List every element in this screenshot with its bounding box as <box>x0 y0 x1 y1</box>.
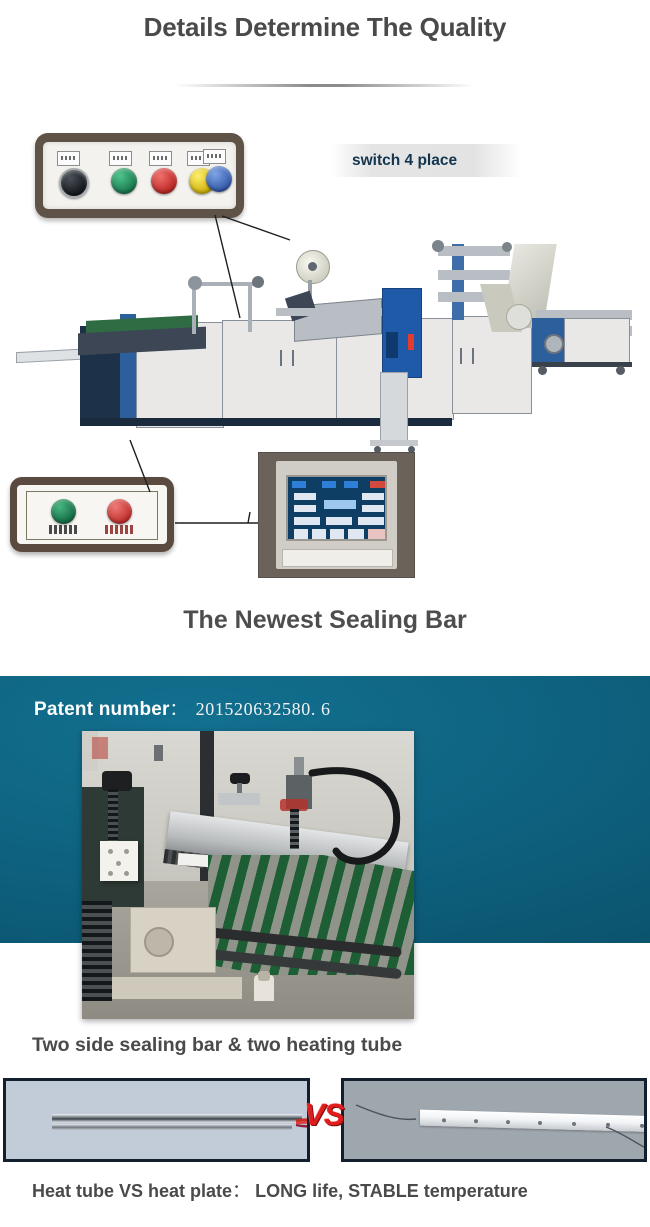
details-section: Details Determine The Quality switch 4 p… <box>0 0 650 668</box>
heat-tube-photo <box>3 1078 310 1162</box>
comparison-caption: Heat tube VS heat plate： LONG life, STAB… <box>32 1177 528 1203</box>
patent-colon: ： <box>170 695 187 720</box>
patent-number-line: Patent number ： 201520632580. 6 <box>34 695 331 721</box>
leader-lines <box>0 0 650 668</box>
heat-tube-rod <box>52 1114 302 1123</box>
patent-number-label: Patent number <box>34 699 170 721</box>
sealing-bar-title: The Newest Sealing Bar <box>0 606 650 635</box>
sealing-bar-caption: Two side sealing bar & two heating tube <box>32 1034 402 1057</box>
heat-plate-wires <box>354 1103 646 1153</box>
comparison-caption-colon: ： <box>232 1181 250 1201</box>
comparison-caption-part2: LONG life, STABLE temperature <box>255 1181 528 1201</box>
comparison-caption-part1: Heat tube VS heat plate <box>32 1181 232 1201</box>
heat-plate-photo <box>341 1078 647 1162</box>
patent-number-value: 201520632580. 6 <box>196 699 331 720</box>
vs-badge: VS <box>300 1097 348 1133</box>
sealing-bar-photo <box>82 731 414 1019</box>
heat-tube-rod-second <box>52 1124 292 1130</box>
